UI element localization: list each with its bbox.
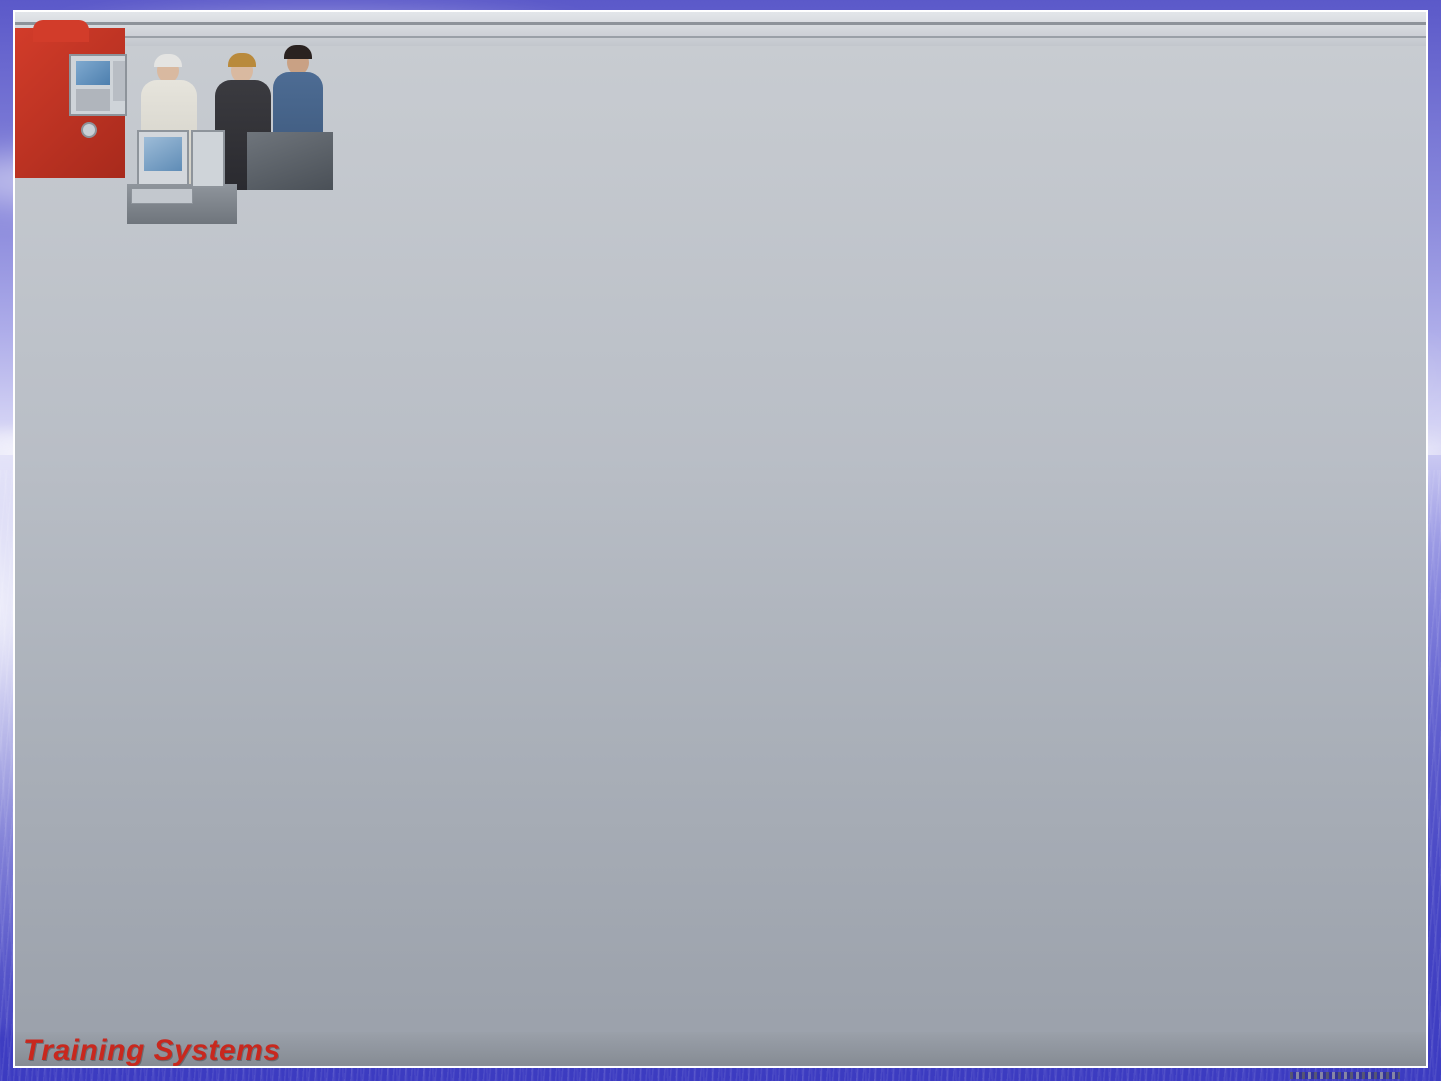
person-hair	[154, 54, 182, 67]
ceiling	[15, 12, 1426, 46]
person-hair	[284, 45, 312, 59]
training-caption: Training Systems	[15, 1034, 1426, 1066]
training-monitor	[137, 130, 189, 186]
cnc-screen	[76, 61, 110, 85]
person-hair	[228, 53, 256, 67]
cnc-keypad	[76, 89, 110, 111]
training-keypad	[191, 130, 225, 188]
cnc-softkeys	[113, 61, 125, 101]
monitor-screen	[144, 137, 182, 171]
background-machine	[247, 132, 333, 190]
cnc-control-panel	[69, 54, 127, 116]
ceiling-beam	[15, 22, 1426, 25]
machine-hood	[33, 20, 89, 42]
training-room-scene: Training Systems	[15, 12, 1426, 1066]
image-training-systems: Training Systems	[0, 0, 318, 249]
console-keyboard	[131, 188, 193, 204]
ceiling-beam	[15, 36, 1426, 38]
bottom-edge-artifact	[1290, 1072, 1400, 1079]
emergency-stop-icon	[81, 122, 97, 138]
photo-white-border: Training Systems	[13, 10, 1428, 1068]
